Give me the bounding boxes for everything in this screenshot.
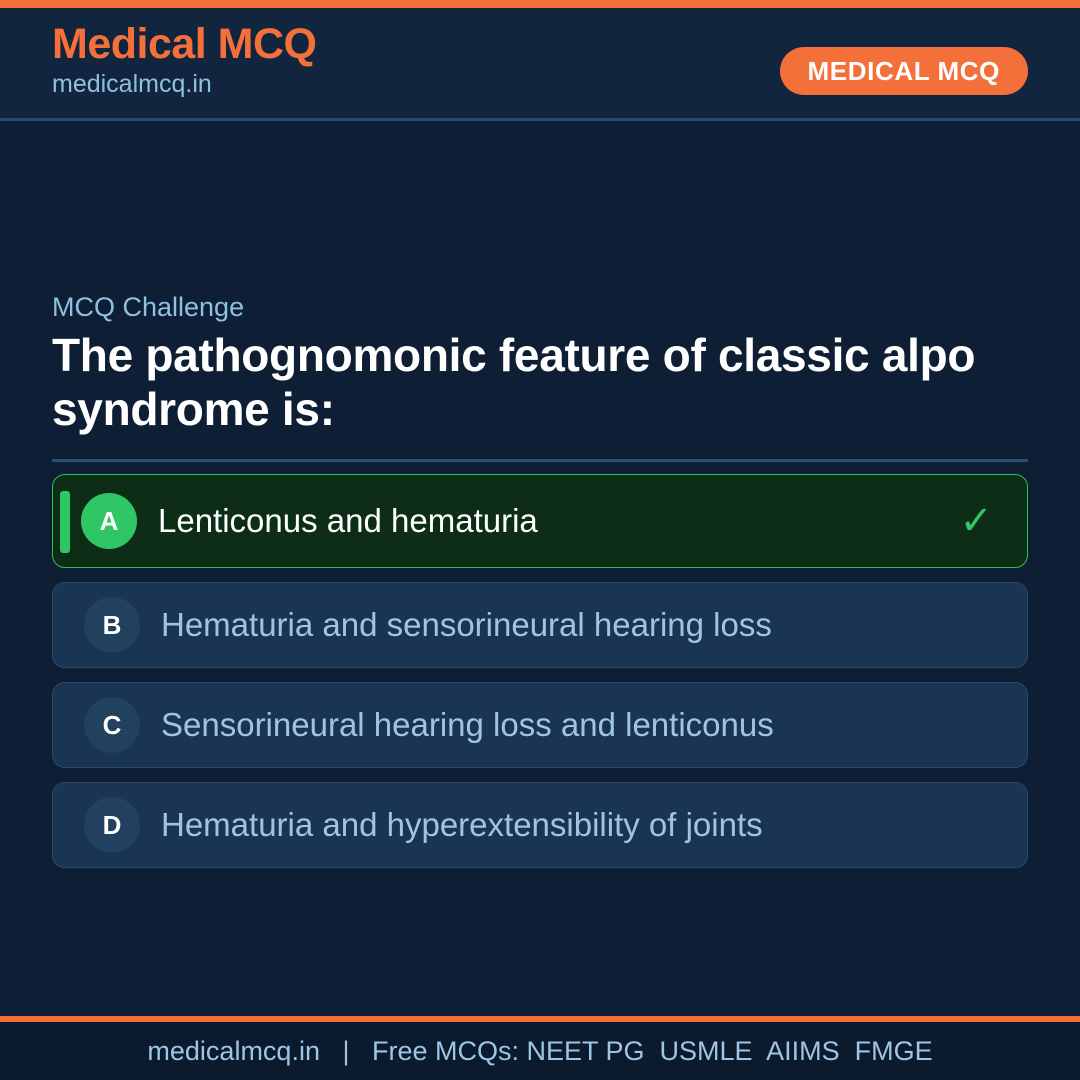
option-text-c: Sensorineural hearing loss and lenticonu…: [161, 707, 774, 743]
option-row-b[interactable]: B Hematuria and sensorineural hearing lo…: [52, 582, 1028, 668]
options-list: A Lenticonus and hematuria ✓ B Hematuria…: [52, 474, 1028, 882]
app-footer: medicalmcq.in | Free MCQs: NEET PG USMLE…: [0, 1022, 1080, 1080]
app-header: Medical MCQ medicalmcq.in MEDICAL MCQ: [0, 8, 1080, 120]
main-content: MCQ Challenge The pathognomonic feature …: [0, 121, 1080, 1014]
option-letter-badge-c: C: [84, 697, 140, 753]
footer-text: medicalmcq.in | Free MCQs: NEET PG USMLE…: [147, 1038, 932, 1065]
check-icon: ✓: [959, 501, 993, 541]
option-text-a: Lenticonus and hematuria: [158, 503, 538, 539]
question-text: The pathognomonic feature of classic alp…: [52, 329, 1028, 437]
option-letter-badge-d: D: [84, 797, 140, 853]
brand-url: medicalmcq.in: [52, 71, 317, 97]
question-block: MCQ Challenge The pathognomonic feature …: [52, 291, 1028, 462]
option-letter-badge-b: B: [84, 597, 140, 653]
question-divider: [52, 459, 1028, 462]
brand: Medical MCQ medicalmcq.in: [52, 22, 317, 97]
question-kicker: MCQ Challenge: [52, 291, 1028, 323]
option-row-a[interactable]: A Lenticonus and hematuria ✓: [52, 474, 1028, 568]
correct-accent-bar: [60, 491, 70, 553]
header-badge: MEDICAL MCQ: [780, 47, 1028, 95]
brand-title: Medical MCQ: [52, 22, 317, 67]
option-letter-badge-a: A: [81, 493, 137, 549]
top-accent-bar: [0, 0, 1080, 8]
option-text-b: Hematuria and sensorineural hearing loss: [161, 607, 772, 643]
option-row-c[interactable]: C Sensorineural hearing loss and lentico…: [52, 682, 1028, 768]
option-text-d: Hematuria and hyperextensibility of join…: [161, 807, 763, 843]
option-row-d[interactable]: D Hematuria and hyperextensibility of jo…: [52, 782, 1028, 868]
